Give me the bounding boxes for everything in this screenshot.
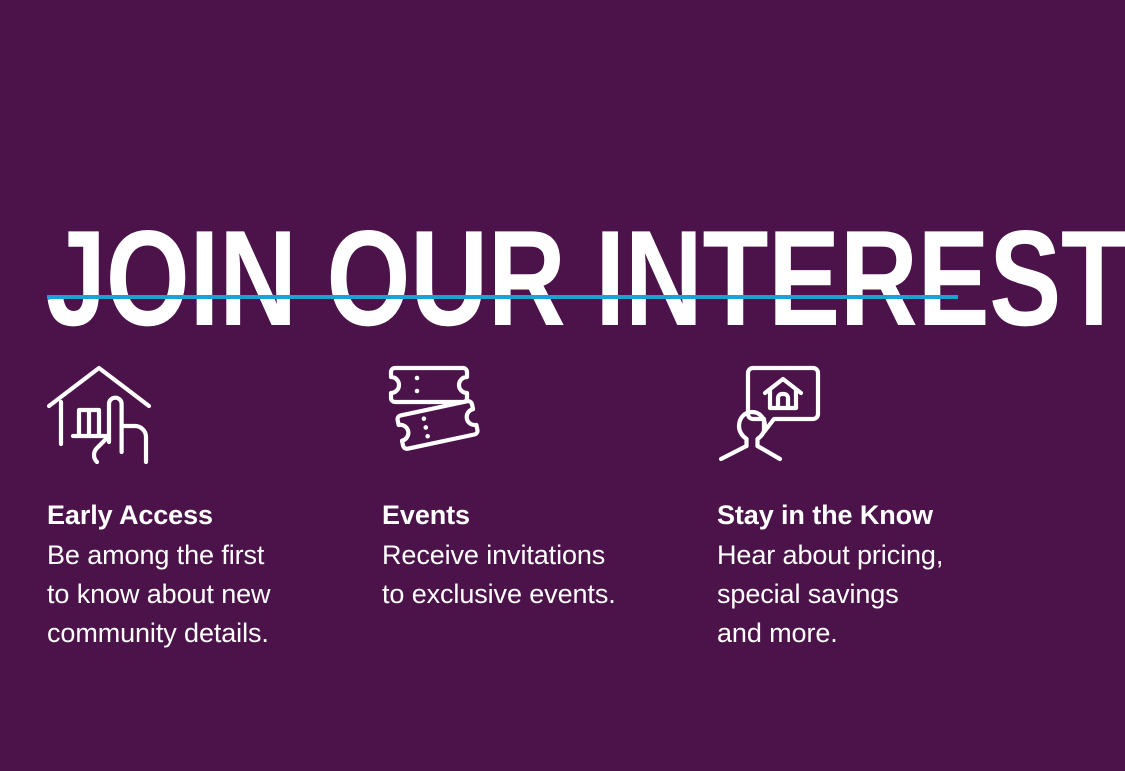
interest-list-promo-panel: JOIN OUR INTEREST LIST: [0, 0, 1125, 771]
accent-divider: [47, 295, 958, 299]
feature-list: Early Access Be among the first to know …: [47, 360, 1087, 653]
feature-item-early-access: Early Access Be among the first to know …: [47, 360, 382, 653]
person-speech-bubble-house-icon: [717, 360, 1030, 468]
feature-item-stay-in-the-know: Stay in the Know Hear about pricing, spe…: [717, 360, 1052, 653]
page-title: JOIN OUR INTEREST LIST: [46, 209, 841, 347]
feature-description: Be among the first to know about new com…: [47, 536, 360, 653]
feature-description: Hear about pricing, special savings and …: [717, 536, 1030, 653]
feature-title: Early Access: [47, 498, 360, 532]
house-hand-icon: [47, 360, 360, 468]
feature-title: Stay in the Know: [717, 498, 1030, 532]
feature-description: Receive invitations to exclusive events.: [382, 536, 695, 614]
feature-item-events: Events Receive invitations to exclusive …: [382, 360, 717, 614]
feature-title: Events: [382, 498, 695, 532]
tickets-icon: [382, 360, 695, 468]
